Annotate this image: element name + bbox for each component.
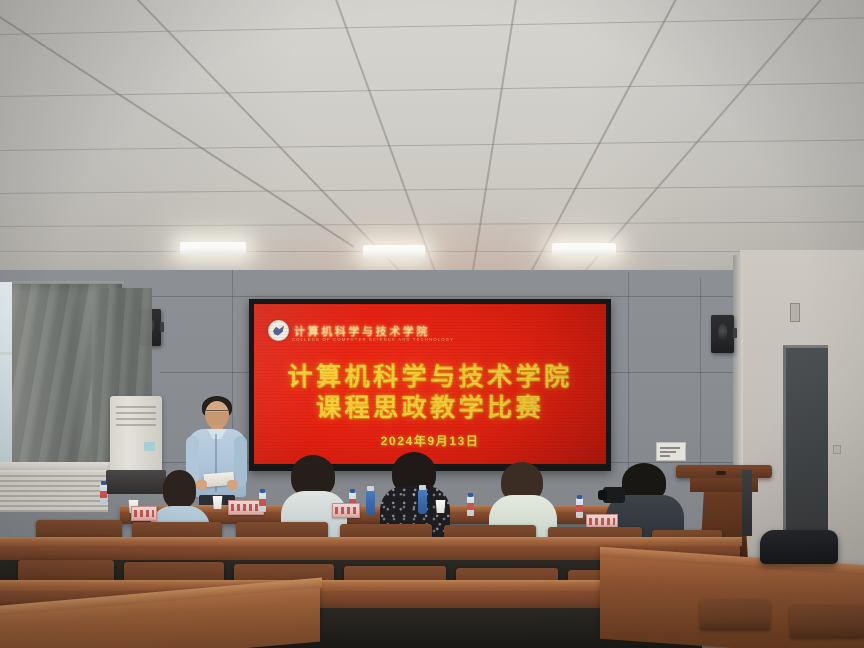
led-display-screen[interactable]: 计算机科学与技术学院 COLLEGE OF COMPUTER SCIENCE A… xyxy=(254,304,606,464)
paper-cup[interactable] xyxy=(435,500,446,513)
water-bottle[interactable] xyxy=(100,484,107,504)
college-logo-subtext: COLLEGE OF COMPUTER SCIENCE AND TECHNOLO… xyxy=(292,337,454,342)
paper-cup[interactable] xyxy=(212,496,223,509)
tripod-stand[interactable] xyxy=(742,470,752,536)
chair-back[interactable] xyxy=(790,606,864,638)
college-emblem-icon xyxy=(268,320,289,341)
screen-title-block: 计算机科学与技术学院 课程思政教学比赛 xyxy=(254,362,606,424)
conference-room-photo: 计算机科学与技术学院 COLLEGE OF COMPUTER SCIENCE A… xyxy=(0,0,864,648)
wall-notice-sign xyxy=(656,442,686,461)
blue-thermos[interactable] xyxy=(366,490,375,515)
wall-fixture xyxy=(833,445,841,454)
wall-switch-box[interactable] xyxy=(790,303,800,322)
camera-lens-icon xyxy=(598,490,607,500)
ceiling-light-1 xyxy=(180,242,246,255)
desk-row-3-top xyxy=(0,580,702,591)
ac-display-panel xyxy=(144,442,155,451)
air-conditioner[interactable] xyxy=(110,396,162,472)
blue-thermos[interactable] xyxy=(418,489,427,514)
name-card-holder xyxy=(131,506,157,521)
screen-title-line-2: 课程思政教学比赛 xyxy=(254,393,606,424)
black-bag[interactable] xyxy=(760,530,838,564)
podium-mic-socket xyxy=(716,471,726,475)
wall-speaker-right xyxy=(711,315,734,353)
screen-event-date: 2024年9月13日 xyxy=(254,432,606,449)
ceiling-light-3 xyxy=(552,243,616,256)
glasses-icon xyxy=(206,410,228,416)
name-card-holder xyxy=(332,503,360,518)
radiator xyxy=(0,470,108,512)
desk-row-2-top xyxy=(0,537,742,546)
chair-back[interactable] xyxy=(700,600,770,630)
water-bottle[interactable] xyxy=(576,498,583,518)
water-bottle[interactable] xyxy=(259,492,266,512)
ceiling-light-2 xyxy=(363,245,425,258)
screen-title-line-1: 计算机科学与技术学院 xyxy=(254,362,606,393)
water-bottle[interactable] xyxy=(467,496,474,516)
